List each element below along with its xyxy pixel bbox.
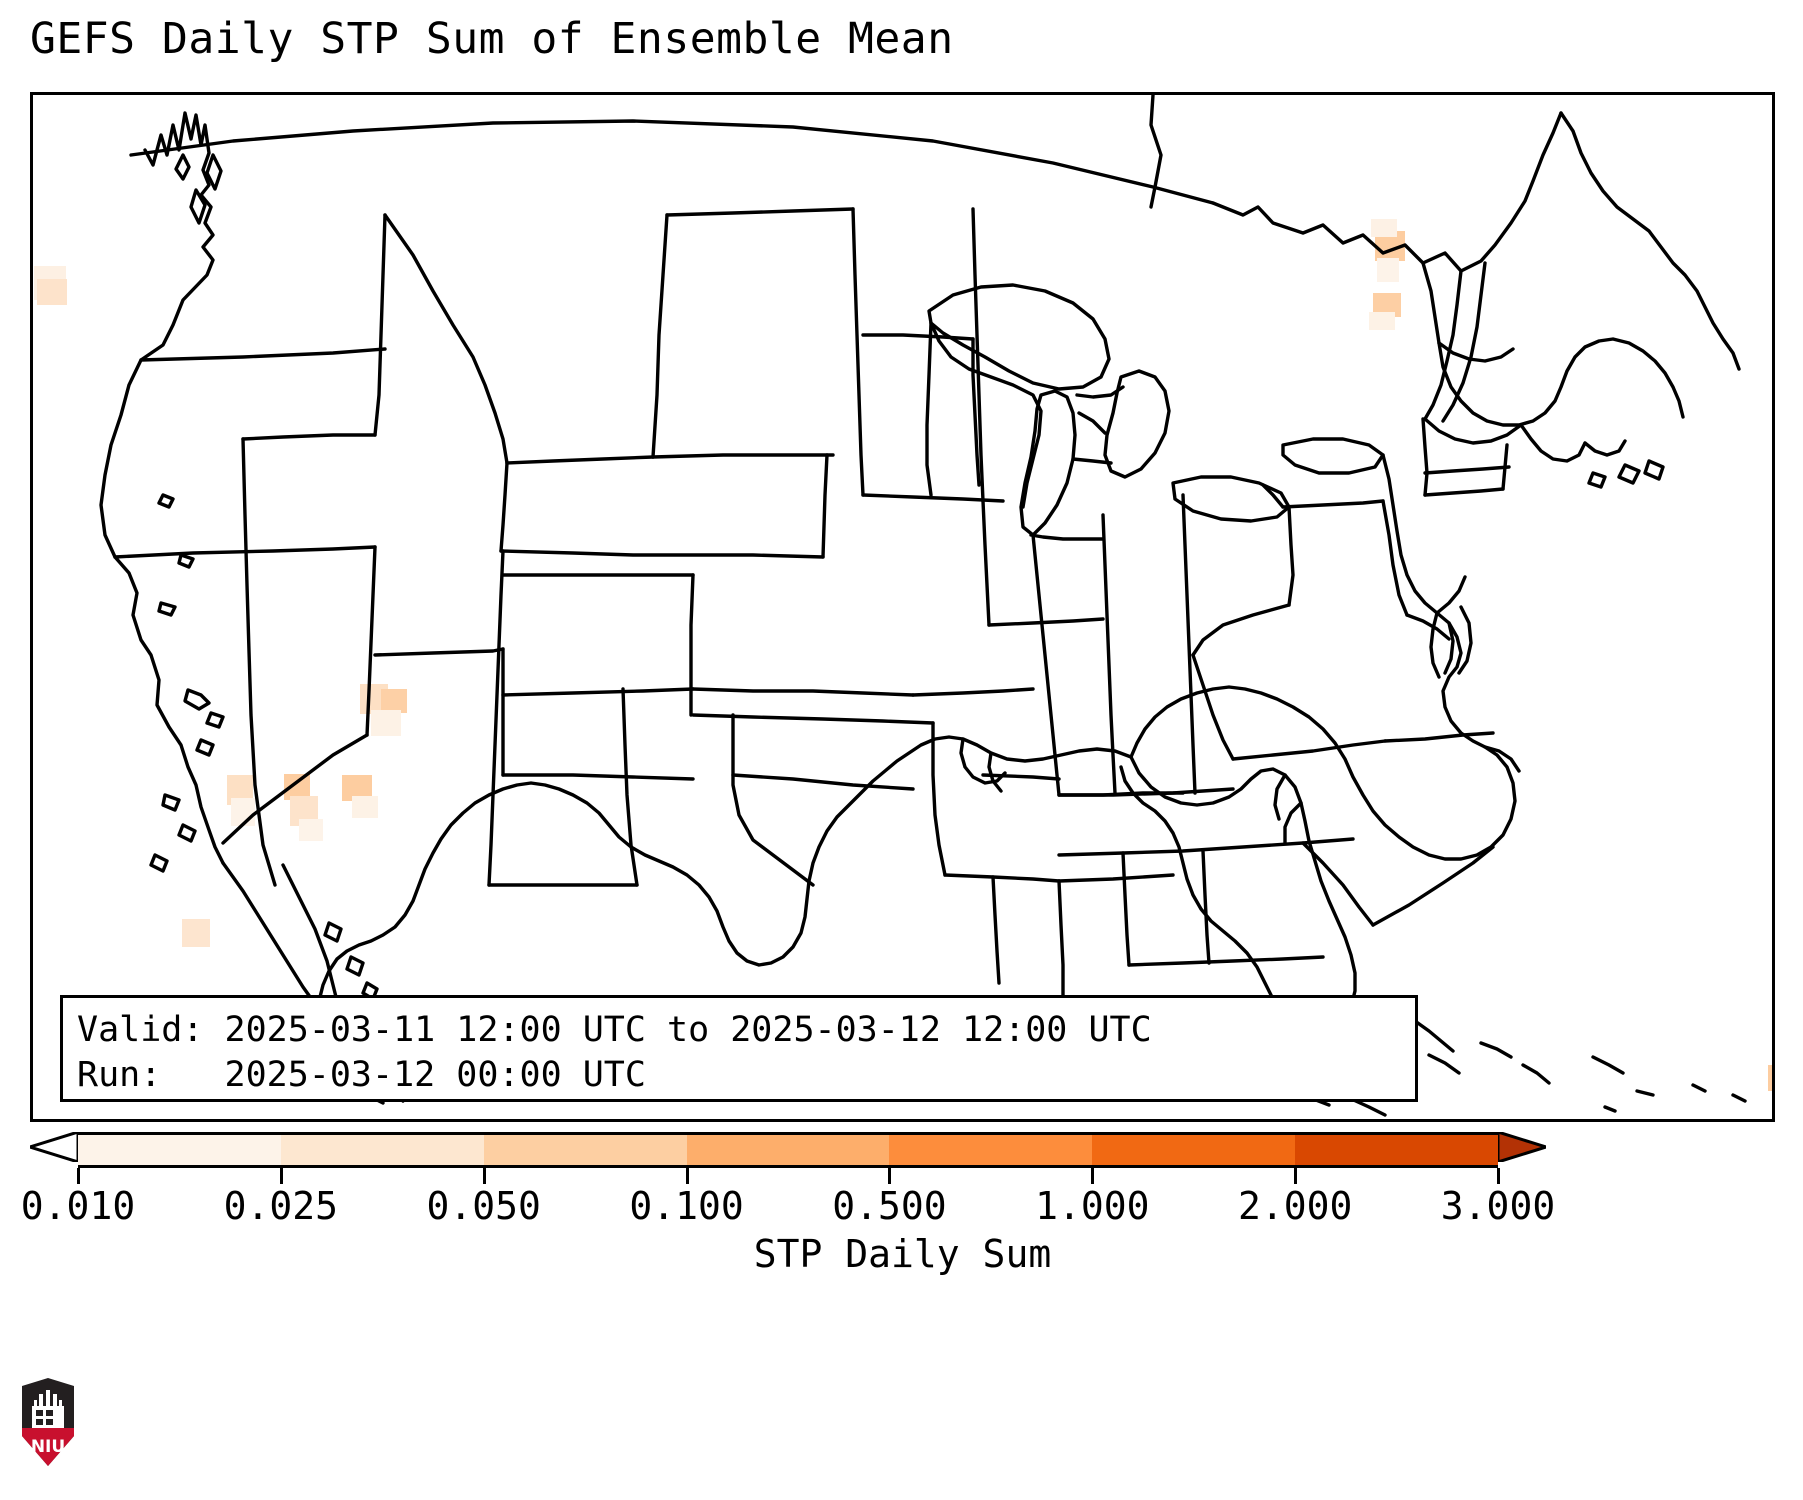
colorbar-tick-6 xyxy=(1294,1168,1297,1184)
colorbar-tick-label-4: 0.500 xyxy=(832,1184,946,1228)
niu-logo: NIU xyxy=(18,1376,78,1468)
colorbar-tick-label-6: 2.000 xyxy=(1238,1184,1352,1228)
colorbar-tick-label-5: 1.000 xyxy=(1035,1184,1149,1228)
forecast-info-box: Valid: 2025-03-11 12:00 UTC to 2025-03-1… xyxy=(60,995,1418,1102)
colorbar-ticks xyxy=(78,1168,1498,1184)
colorbar-under-arrow xyxy=(30,1132,78,1162)
colorbar-tick-labels: 0.0100.0250.0500.1000.5001.0002.0003.000 xyxy=(30,1184,1775,1230)
colorbar-tick-label-7: 3.000 xyxy=(1441,1184,1555,1228)
run-time-line: Run: 2025-03-12 00:00 UTC xyxy=(77,1053,1415,1098)
colorbar-segment-1 xyxy=(281,1135,484,1165)
colorbar-segment-3 xyxy=(687,1135,890,1165)
valid-time-line: Valid: 2025-03-11 12:00 UTC to 2025-03-1… xyxy=(77,1008,1415,1053)
colorbar-tick-label-3: 0.100 xyxy=(629,1184,743,1228)
colorbar-segment-2 xyxy=(484,1135,687,1165)
colorbar-tick-label-0: 0.010 xyxy=(21,1184,135,1228)
map-geography xyxy=(33,95,1772,1119)
map-plot-area xyxy=(30,92,1775,1122)
colorbar-tick-label-1: 0.025 xyxy=(224,1184,338,1228)
colorbar-tick-label-2: 0.050 xyxy=(427,1184,541,1228)
niu-logo-text: NIU xyxy=(31,1437,65,1457)
page-title: GEFS Daily STP Sum of Ensemble Mean xyxy=(30,14,954,64)
colorbar: 0.0100.0250.0500.1000.5001.0002.0003.000 xyxy=(30,1128,1775,1198)
colorbar-segment-4 xyxy=(889,1135,1092,1165)
colorbar-tick-1 xyxy=(280,1168,283,1184)
colorbar-segment-6 xyxy=(1295,1135,1498,1165)
colorbar-tick-3 xyxy=(686,1168,689,1184)
colorbar-gradient xyxy=(78,1132,1498,1168)
colorbar-tick-2 xyxy=(483,1168,486,1184)
colorbar-segment-5 xyxy=(1092,1135,1295,1165)
colorbar-tick-4 xyxy=(888,1168,891,1184)
colorbar-axis-label: STP Daily Sum xyxy=(30,1232,1775,1276)
colorbar-tick-7 xyxy=(1497,1168,1500,1184)
colorbar-tick-5 xyxy=(1091,1168,1094,1184)
colorbar-over-arrow xyxy=(1498,1132,1546,1162)
colorbar-tick-0 xyxy=(77,1168,80,1184)
colorbar-segment-0 xyxy=(78,1135,281,1165)
